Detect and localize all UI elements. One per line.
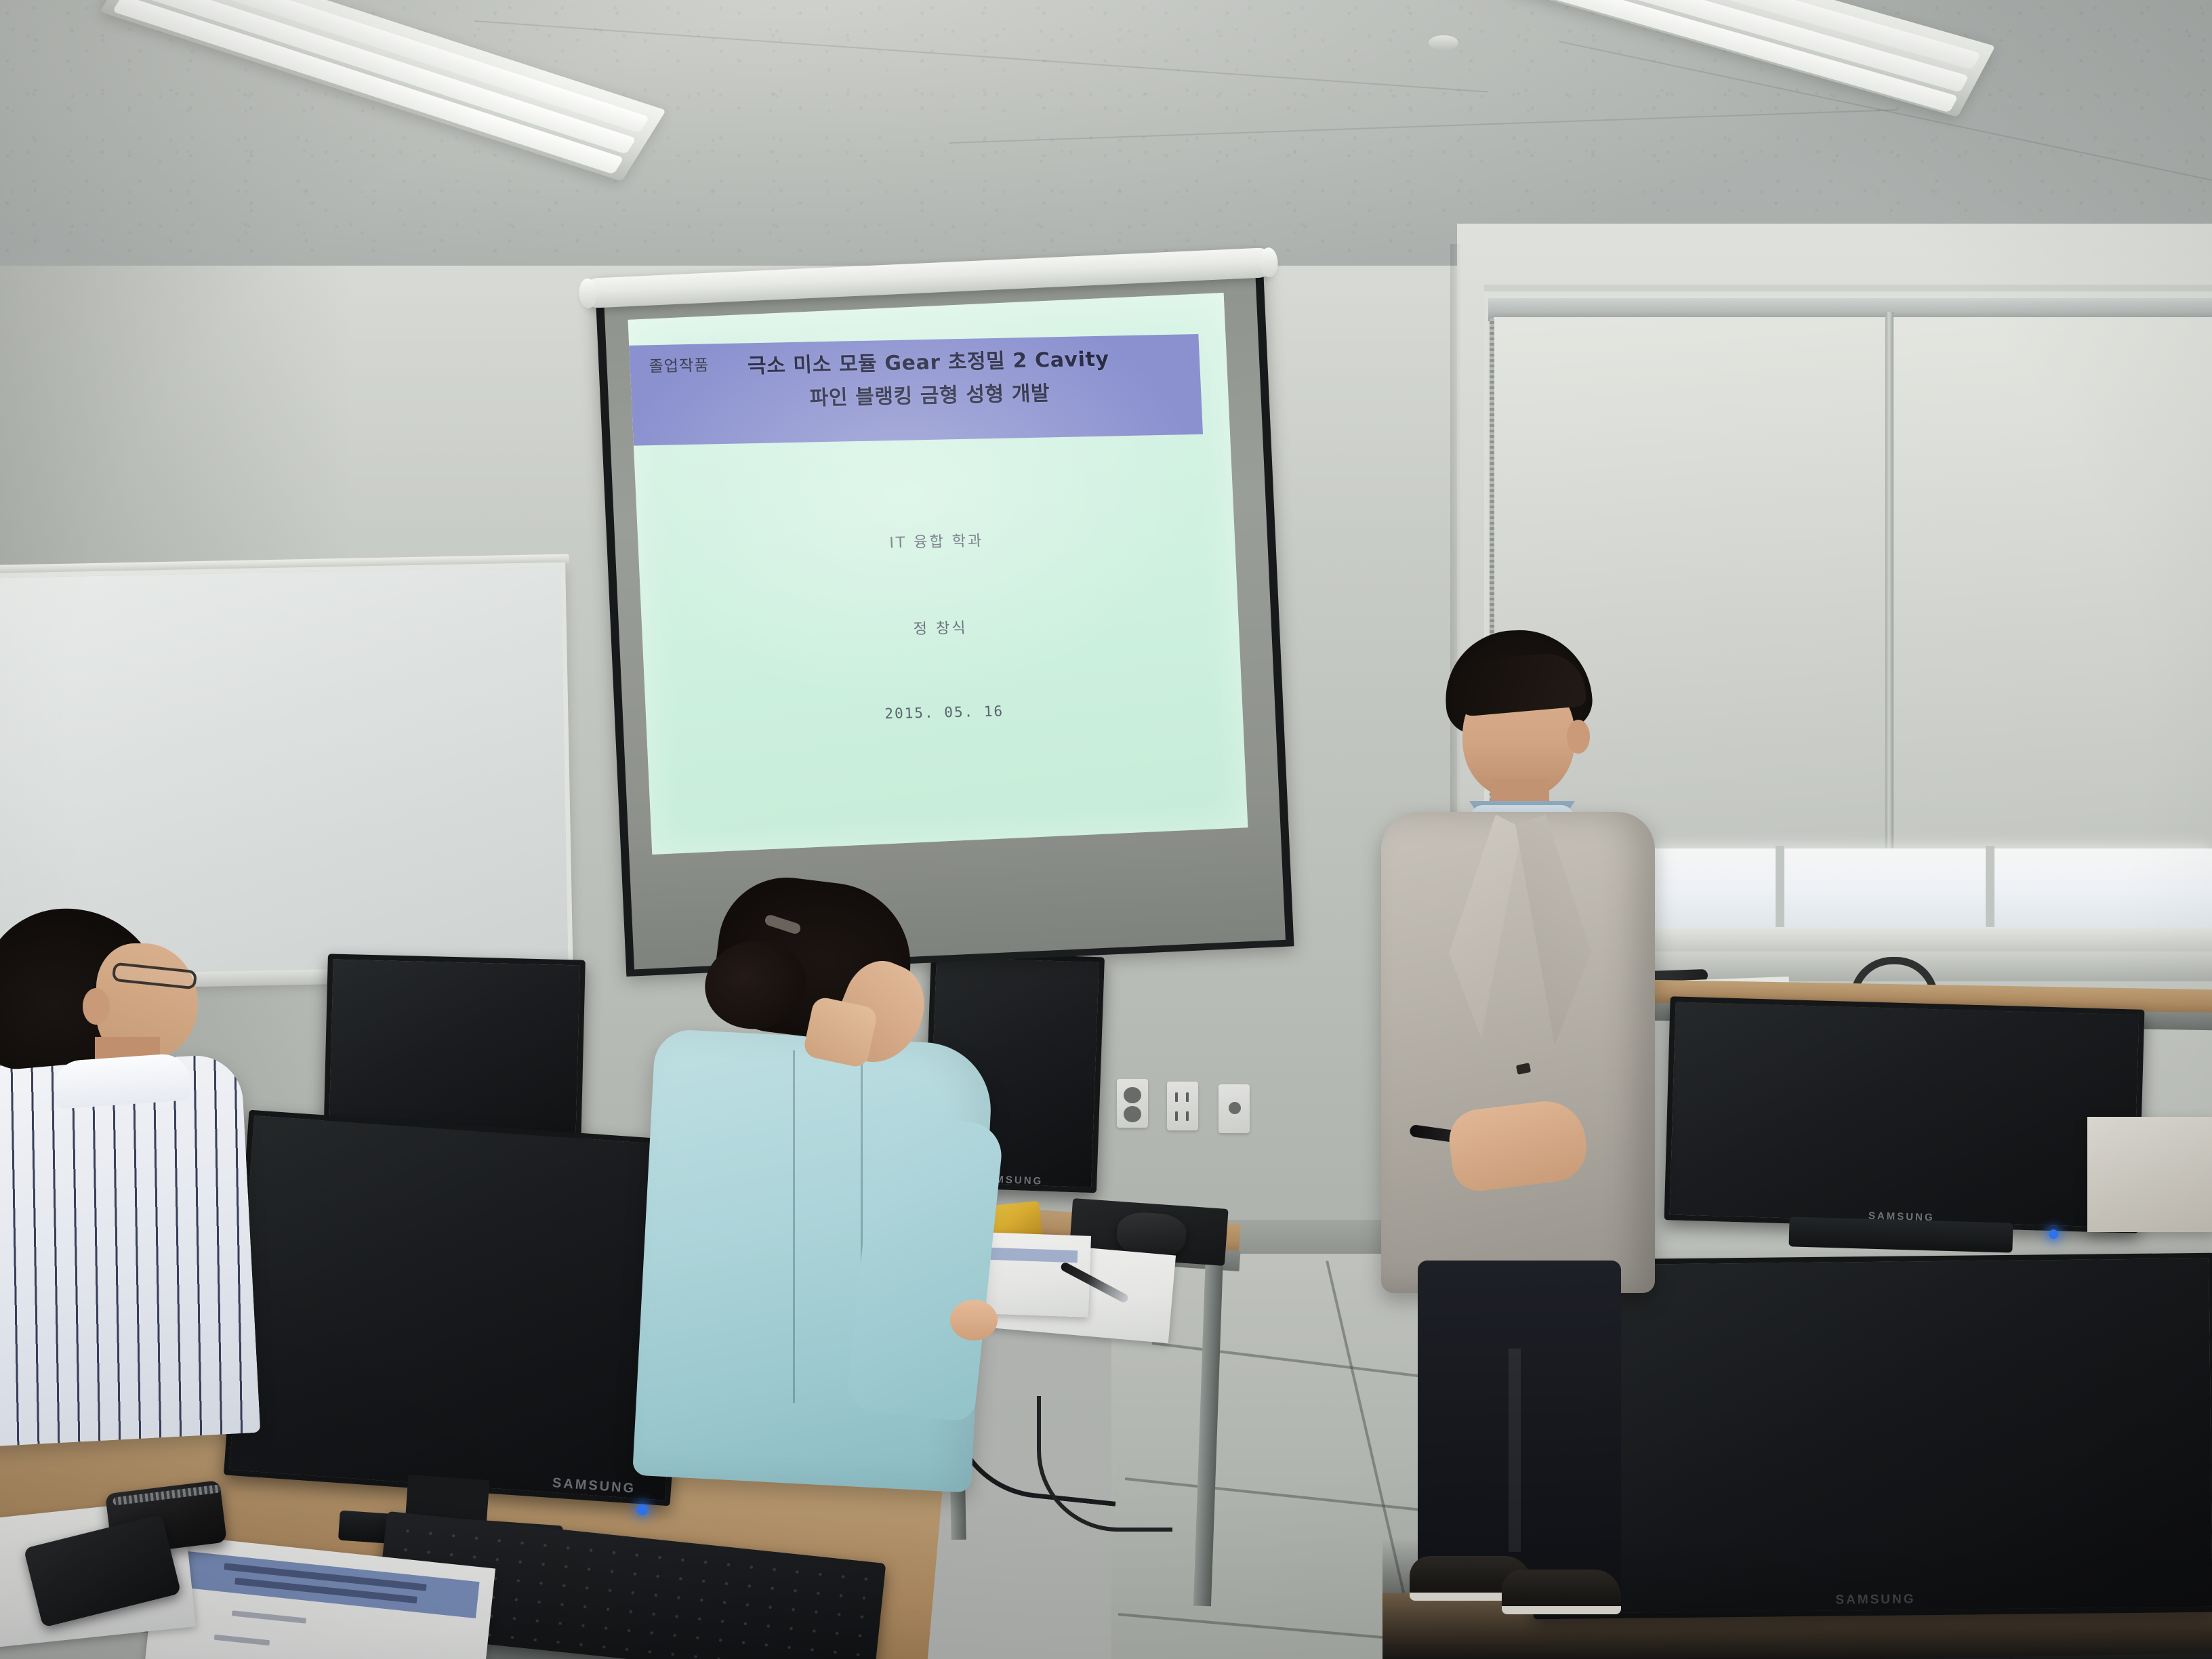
roller-blind-right[interactable]	[1892, 317, 2212, 914]
outlet-slot	[1186, 1092, 1189, 1102]
projection-screen[interactable]: 졸업작품 극소 미소 모듈 Gear 초정밀 2 Cavity 파인 블랭킹 금…	[595, 253, 1294, 974]
seated-man-person	[0, 901, 305, 1443]
window-sill	[1586, 927, 2212, 954]
seated-woman-hand	[950, 1300, 998, 1340]
seated-man-ear	[83, 988, 110, 1025]
presenter-jacket	[1381, 812, 1655, 1293]
projected-slide: 졸업작품 극소 미소 모듈 Gear 초정밀 2 Cavity 파인 블랭킹 금…	[628, 293, 1248, 855]
monitor-stand-right-rear	[1788, 1216, 2013, 1252]
presenter-ear	[1567, 720, 1590, 754]
slide-date: 2015. 05. 16	[646, 697, 1243, 727]
power-outlet-flat-pin[interactable]	[1167, 1082, 1198, 1130]
presenter-person	[1369, 630, 1660, 1599]
seated-man-collar	[53, 1052, 191, 1109]
outlet-slot	[1175, 1092, 1178, 1102]
wall-port-plate[interactable]	[1218, 1084, 1250, 1133]
presenter-leg-split	[1509, 1349, 1521, 1552]
outlet-socket	[1124, 1106, 1141, 1122]
monitor-screen	[1664, 996, 2145, 1233]
classroom-photo: 졸업작품 극소 미소 모듈 Gear 초정밀 2 Cavity 파인 블랭킹 금…	[0, 0, 2212, 1659]
monitor-right-rear[interactable]: SAMSUNG	[1664, 996, 2145, 1233]
slide-presenter-name: 정 창식	[642, 609, 1239, 644]
window-glass	[1640, 848, 2212, 930]
slide-department: IT 융합 학과	[638, 523, 1235, 558]
window-mullion	[1776, 846, 1784, 934]
shoe-sole	[1502, 1606, 1621, 1614]
cable	[1037, 1396, 1172, 1532]
seated-woman-person	[637, 881, 989, 1491]
ceiling-smoke-detector	[1429, 35, 1458, 50]
outlet-slot	[1186, 1111, 1189, 1121]
slide-title: 극소 미소 모듈 Gear 초정밀 2 Cavity 파인 블랭킹 금형 성형 …	[630, 341, 1229, 419]
jacket-seam	[793, 1050, 795, 1403]
window-mullion	[1986, 846, 1994, 934]
port-socket	[1229, 1102, 1241, 1114]
cardboard-box[interactable]	[2087, 1117, 2212, 1232]
outlet-slot	[1175, 1111, 1178, 1121]
power-outlet-round-pin[interactable]	[1117, 1079, 1148, 1128]
presenter-shoe-right	[1502, 1570, 1621, 1614]
seated-man-shirt	[0, 1053, 260, 1448]
outlet-socket	[1124, 1087, 1141, 1103]
window-mullion	[1885, 312, 1893, 922]
